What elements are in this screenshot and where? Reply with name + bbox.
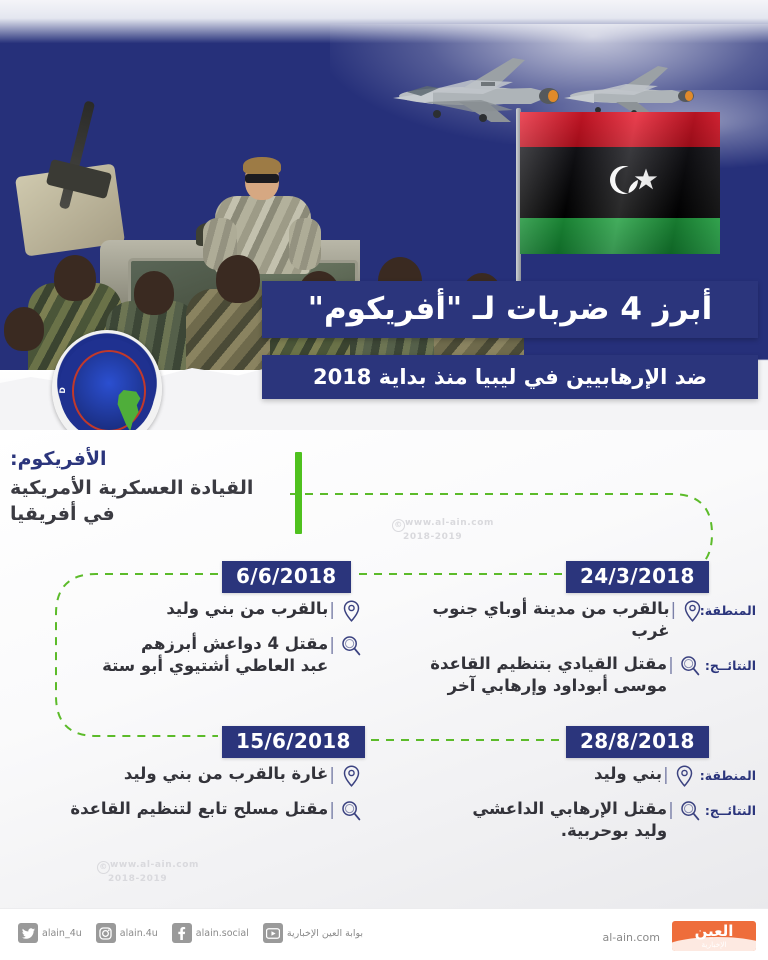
strike-card-3: المنطقة: | بني وليد النتائــج: | xyxy=(426,763,756,853)
instagram-handle: alain.4u xyxy=(120,928,158,939)
svg-text:UNITED STATES AFRICA COMMAND: UNITED STATES AFRICA COMMAND xyxy=(52,330,67,394)
results-label: النتائــج: xyxy=(705,798,756,818)
results-line1: مقتل مسلح تابع لتنظيم القاعدة xyxy=(36,798,328,820)
flag-shading xyxy=(520,112,720,254)
results-value: مقتل القيادي بتنظيم القاعدة موسى أبوداود… xyxy=(426,653,667,697)
strike-card-1: المنطقة: | بالقرب من مدينة أوباي جنوب غر… xyxy=(426,598,756,708)
region-row: المنطقة: | بالقرب من مدينة أوباي جنوب غر… xyxy=(426,598,756,642)
date-badge-strike-4[interactable]: 15/6/2018 xyxy=(222,726,365,758)
instagram-icon[interactable] xyxy=(96,923,116,943)
magnifier-icon xyxy=(675,798,705,822)
social-instagram[interactable]: alain.4u xyxy=(96,923,158,943)
infographic-page: UNITED STATES AFRICA COMMAND ★★★ أبرز 4 … xyxy=(0,0,768,960)
date-badge-strike-1[interactable]: 24/3/2018 xyxy=(566,561,709,593)
logo-sub-text: الإخبارية xyxy=(701,941,726,949)
row-separator: | xyxy=(329,633,335,655)
social-facebook[interactable]: alain.social xyxy=(172,923,249,943)
soldier-hair xyxy=(243,157,281,175)
watermark-bottom: ©www.al-ain.com 2018-2019 xyxy=(95,860,199,885)
watermark-site: www.al-ain.com xyxy=(405,518,494,528)
definition-term: الأفريكوم: xyxy=(10,447,300,473)
social-links: alain_4u alain.4u alain.social بوابة الع… xyxy=(18,923,377,943)
copyright-icon: © xyxy=(97,861,110,874)
copyright-icon: © xyxy=(392,519,405,532)
row-separator: | xyxy=(329,598,335,620)
trooper-head xyxy=(134,271,174,315)
trooper-head xyxy=(54,255,96,301)
results-value: مقتل الإرهابي الداعشي وليد بوحربية. xyxy=(426,798,667,842)
footer-url[interactable]: al-ain.com xyxy=(602,931,660,944)
definition-meaning-line2: في أفريقيا xyxy=(10,501,300,527)
footer-bar: alain_4u alain.4u alain.social بوابة الع… xyxy=(0,908,768,960)
region-value: بني وليد xyxy=(426,763,662,785)
definition-block: الأفريكوم: القيادة العسكرية الأمريكية في… xyxy=(10,447,300,527)
results-row: النتائــج: | مقتل القيادي بتنظيم القاعدة… xyxy=(426,653,756,697)
soldier-sunglasses xyxy=(245,174,279,183)
row-separator: | xyxy=(671,598,677,620)
watermark-years: 2018-2019 xyxy=(108,874,167,884)
page-title: أبرز 4 ضربات لـ "أفريكوم" xyxy=(308,294,712,325)
subtitle-band: ضد الإرهابيين في ليبيا منذ بداية 2018 xyxy=(262,355,758,399)
main-title-band: أبرز 4 ضربات لـ "أفريكوم" xyxy=(262,281,758,338)
magnifier-icon xyxy=(336,798,366,822)
row-separator: | xyxy=(663,763,669,785)
facebook-icon[interactable] xyxy=(172,923,192,943)
region-row: المنطقة: | بني وليد xyxy=(426,763,756,787)
twitter-icon[interactable] xyxy=(18,923,38,943)
watermark-center: ©www.al-ain.com 2018-2019 xyxy=(390,518,494,543)
results-row: | مقتل 4 دواعش أبرزهم عبد العاطي أشتيوي … xyxy=(36,633,366,677)
page-subtitle: ضد الإرهابيين في ليبيا منذ بداية 2018 xyxy=(313,367,707,388)
region-value: بالقرب من مدينة أوباي جنوب غرب xyxy=(426,598,670,642)
facebook-handle: alain.social xyxy=(196,928,249,939)
results-line2: موسى أبوداود وإرهابي آخر xyxy=(426,675,667,697)
definition-meaning-line1: القيادة العسكرية الأمريكية xyxy=(10,475,300,501)
strike-card-4: | غارة بالقرب من بني وليد | مقتل مسلح تا… xyxy=(36,763,366,833)
row-separator: | xyxy=(329,763,335,785)
map-pin-icon xyxy=(336,598,366,622)
region-value: غارة بالقرب من بني وليد xyxy=(36,763,328,785)
strike-card-2: | بالقرب من بني وليد | مقتل 4 دواعش أبرز… xyxy=(36,598,366,688)
row-separator: | xyxy=(668,653,674,675)
seal-text: UNITED STATES AFRICA COMMAND xyxy=(52,330,67,394)
results-line1: مقتل 4 دواعش أبرزهم xyxy=(36,633,328,655)
map-pin-icon xyxy=(336,763,366,787)
libya-flag xyxy=(520,112,720,254)
watermark-site: www.al-ain.com xyxy=(110,860,199,870)
youtube-handle: بوابة العين الإخبارية xyxy=(287,928,363,939)
region-label: المنطقة: xyxy=(707,598,756,618)
results-value: مقتل 4 دواعش أبرزهم عبد العاطي أشتيوي أب… xyxy=(36,633,328,677)
al-ain-logo[interactable]: العين الإخبارية xyxy=(672,921,756,951)
watermark-years: 2018-2019 xyxy=(403,532,462,542)
magnifier-icon xyxy=(336,633,366,657)
trooper-head xyxy=(4,307,44,351)
row-separator: | xyxy=(668,798,674,820)
map-pin-icon xyxy=(677,598,707,622)
results-row: النتائــج: | مقتل الإرهابي الداعشي وليد … xyxy=(426,798,756,842)
magnifier-icon xyxy=(675,653,705,677)
region-value: بالقرب من بني وليد xyxy=(36,598,328,620)
social-twitter[interactable]: alain_4u xyxy=(18,923,82,943)
row-separator: | xyxy=(329,798,335,820)
results-value: مقتل مسلح تابع لتنظيم القاعدة xyxy=(36,798,328,820)
region-label: المنطقة: xyxy=(700,763,756,783)
map-pin-icon xyxy=(670,763,700,787)
results-line1: مقتل الإرهابي الداعشي xyxy=(426,798,667,820)
results-line1: مقتل القيادي بتنظيم القاعدة xyxy=(426,653,667,675)
results-label: النتائــج: xyxy=(705,653,756,673)
results-line2: عبد العاطي أشتيوي أبو ستة xyxy=(36,655,328,677)
results-line2: وليد بوحربية. xyxy=(426,820,667,842)
region-row: | غارة بالقرب من بني وليد xyxy=(36,763,366,787)
region-row: | بالقرب من بني وليد xyxy=(36,598,366,622)
trooper-head xyxy=(216,255,260,303)
date-badge-strike-3[interactable]: 28/8/2018 xyxy=(566,726,709,758)
date-badge-strike-2[interactable]: 6/6/2018 xyxy=(222,561,351,593)
youtube-icon[interactable] xyxy=(263,923,283,943)
twitter-handle: alain_4u xyxy=(42,928,82,939)
results-row: | مقتل مسلح تابع لتنظيم القاعدة xyxy=(36,798,366,822)
social-youtube[interactable]: بوابة العين الإخبارية xyxy=(263,923,363,943)
